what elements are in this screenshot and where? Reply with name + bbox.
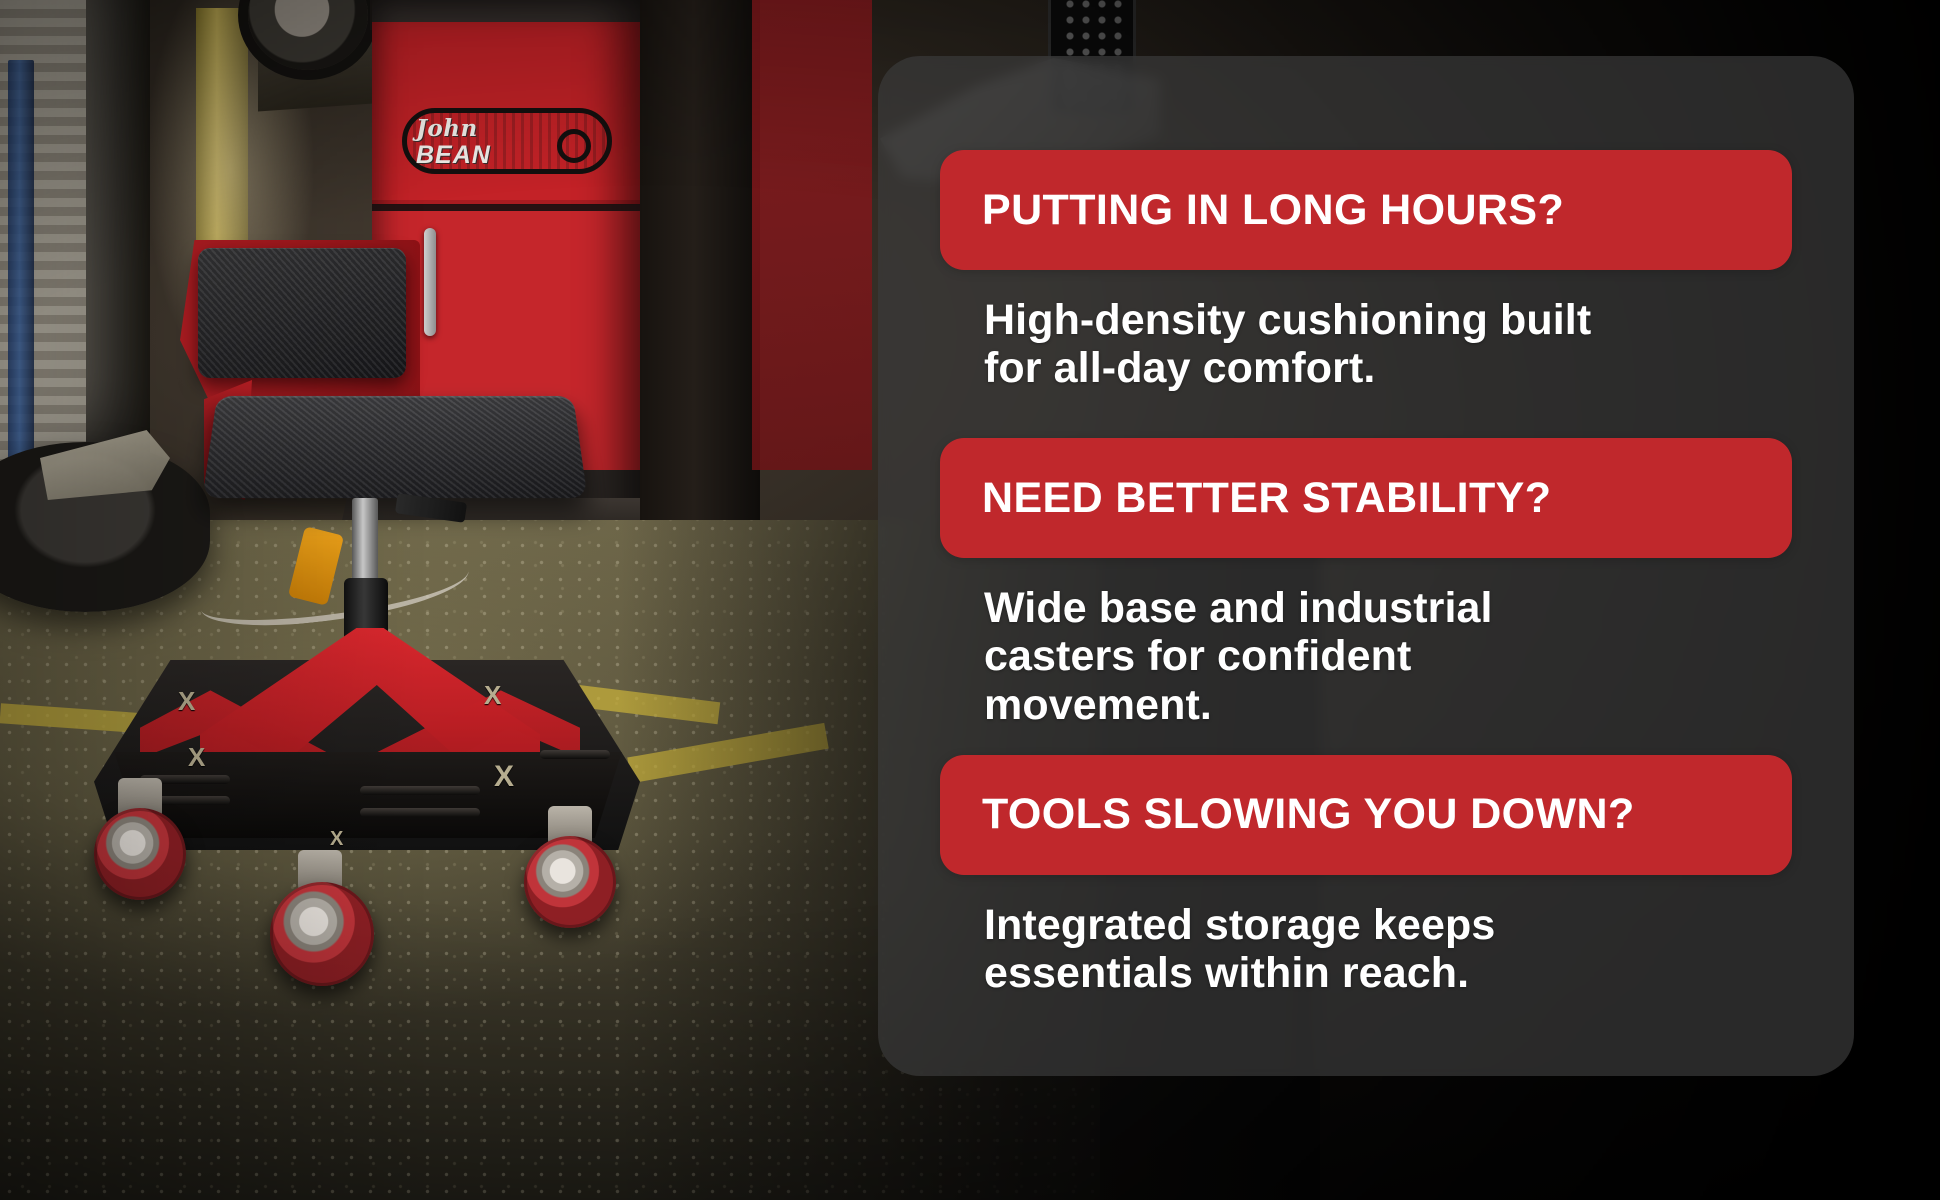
- feature-body-1: High-density cushioning built for all-da…: [984, 296, 1624, 392]
- feature-headline-banner-3: TOOLS SLOWING YOU DOWN?: [940, 755, 1792, 875]
- base-x-mark-5: X: [330, 828, 343, 851]
- john-bean-logo-text: John BEAN: [408, 112, 568, 170]
- feature-headline-banner-1: PUTTING IN LONG HOURS?: [940, 150, 1792, 270]
- cabinet-seam: [372, 204, 640, 211]
- tray-slot-5: [540, 750, 610, 759]
- caster-right: [524, 836, 616, 928]
- headline-text-3: TOOLS SLOWING YOU DOWN?: [982, 793, 1635, 836]
- caster-front: [270, 882, 374, 986]
- base-x-mark-4: X: [484, 680, 501, 711]
- shop-stool: X X X X X: [80, 230, 640, 960]
- banner-canvas: John BEAN: [0, 0, 1940, 1200]
- far-red-panel: [752, 0, 872, 470]
- brand-script: John: [416, 115, 478, 142]
- stool-backrest-cushion: [198, 248, 406, 378]
- brand-block: BEAN: [416, 142, 568, 168]
- spacer-1: [940, 392, 1794, 438]
- feature-headline-banner-2: NEED BETTER STABILITY?: [940, 438, 1792, 558]
- caster-left: [94, 808, 186, 900]
- stool-gas-cylinder: [352, 498, 378, 588]
- feature-body-2: Wide base and industrial casters for con…: [984, 584, 1624, 728]
- feature-panel: PUTTING IN LONG HOURS? High-density cush…: [878, 56, 1854, 1076]
- dark-structural-column: [640, 0, 760, 560]
- headline-text-2: NEED BETTER STABILITY?: [982, 477, 1551, 520]
- headline-text-1: PUTTING IN LONG HOURS?: [982, 189, 1564, 232]
- feature-body-3: Integrated storage keeps essentials with…: [984, 901, 1624, 997]
- base-x-mark-3: X: [494, 760, 514, 794]
- blue-lift-post: [8, 60, 34, 480]
- base-x-mark-1: X: [178, 686, 195, 717]
- spacer-2: [940, 729, 1794, 755]
- tray-slot-4: [360, 808, 480, 817]
- stool-seat-cushion: [202, 396, 587, 498]
- tray-slot-3: [360, 786, 480, 795]
- base-x-mark-2: X: [188, 742, 205, 773]
- feature-panel-content: PUTTING IN LONG HOURS? High-density cush…: [878, 56, 1854, 1076]
